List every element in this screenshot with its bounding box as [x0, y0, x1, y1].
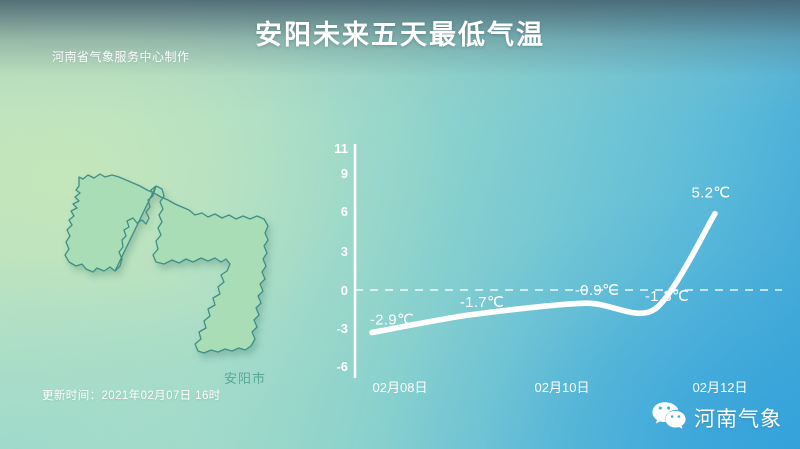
- wechat-icon: [652, 401, 686, 435]
- update-time: 更新时间：2021年02月07日 16时: [42, 387, 221, 403]
- y-tick-label: -3: [336, 321, 348, 336]
- temperature-chart: 11 9 6 3 0 -3 -6 -2.9℃ -1.7℃ -0.9℃ -1.3℃…: [330, 130, 790, 410]
- data-label: -2.9℃: [370, 312, 414, 329]
- y-tick-label: -6: [336, 359, 348, 374]
- y-tick-label: 6: [341, 204, 348, 219]
- x-tick-label: 02月08日: [373, 380, 428, 395]
- wechat-footer: 河南气象: [652, 401, 782, 435]
- y-tick-label: 3: [341, 244, 348, 259]
- producer-credit: 河南省气象服务中心制作: [52, 48, 190, 65]
- data-label: -1.7℃: [460, 294, 504, 311]
- x-tick-label: 02月12日: [693, 380, 748, 395]
- temperature-line: [372, 214, 715, 333]
- data-label: -0.9℃: [575, 282, 619, 299]
- x-tick-label: 02月10日: [535, 380, 590, 395]
- map-shape: [65, 174, 268, 353]
- wechat-account-name: 河南气象: [694, 403, 782, 433]
- anyang-map: 安阳市: [52, 152, 282, 367]
- weather-poster: 安阳未来五天最低气温 河南省气象服务中心制作 更新时间：2021年02月07日 …: [0, 0, 800, 449]
- data-label: 5.2℃: [692, 185, 731, 202]
- map-region-label: 安阳市: [224, 368, 266, 387]
- y-tick-label: 0: [341, 283, 348, 298]
- page-title: 安阳未来五天最低气温: [0, 13, 800, 52]
- data-label: -1.3℃: [645, 288, 689, 305]
- y-tick-label: 11: [334, 141, 348, 156]
- y-tick-label: 9: [341, 166, 348, 181]
